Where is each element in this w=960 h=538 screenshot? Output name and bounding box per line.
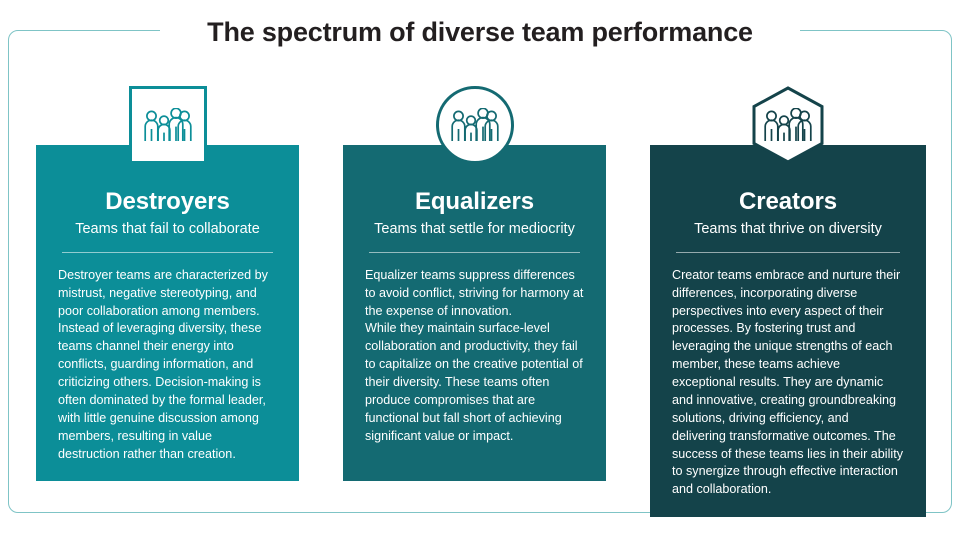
group-of-people-icon [449,108,501,142]
panel-equalizers: Equalizers Teams that settle for mediocr… [343,145,606,481]
badge-destroyers [36,86,299,145]
group-of-people-icon [762,108,814,142]
panel-subtitle: Teams that fail to collaborate [58,221,277,238]
panel-body: Equalizer teams suppress differences to … [365,267,584,446]
badge-shape-square [129,86,207,164]
column-creators: Creators Teams that thrive on diversity … [650,86,926,517]
panel-creators: Creators Teams that thrive on diversity … [650,145,926,517]
panel-title: Equalizers [365,189,584,215]
badge-shape-circle [436,86,514,164]
panel-divider [676,252,900,253]
columns-container: Destroyers Teams that fail to collaborat… [0,0,960,538]
panel-title: Creators [672,189,904,215]
infographic-canvas: The spectrum of diverse team performance [0,0,960,538]
badge-shape-hexagon [749,86,827,164]
panel-body: Destroyer teams are characterized by mis… [58,267,277,464]
panel-title: Destroyers [58,189,277,215]
column-equalizers: Equalizers Teams that settle for mediocr… [343,86,606,481]
badge-equalizers [343,86,606,145]
panel-destroyers: Destroyers Teams that fail to collaborat… [36,145,299,481]
panel-subtitle: Teams that thrive on diversity [672,221,904,238]
column-destroyers: Destroyers Teams that fail to collaborat… [36,86,299,481]
badge-creators [650,86,926,145]
group-of-people-icon [142,108,194,142]
panel-body: Creator teams embrace and nurture their … [672,267,904,499]
panel-divider [369,252,580,253]
panel-divider [62,252,273,253]
panel-subtitle: Teams that settle for mediocrity [365,221,584,238]
